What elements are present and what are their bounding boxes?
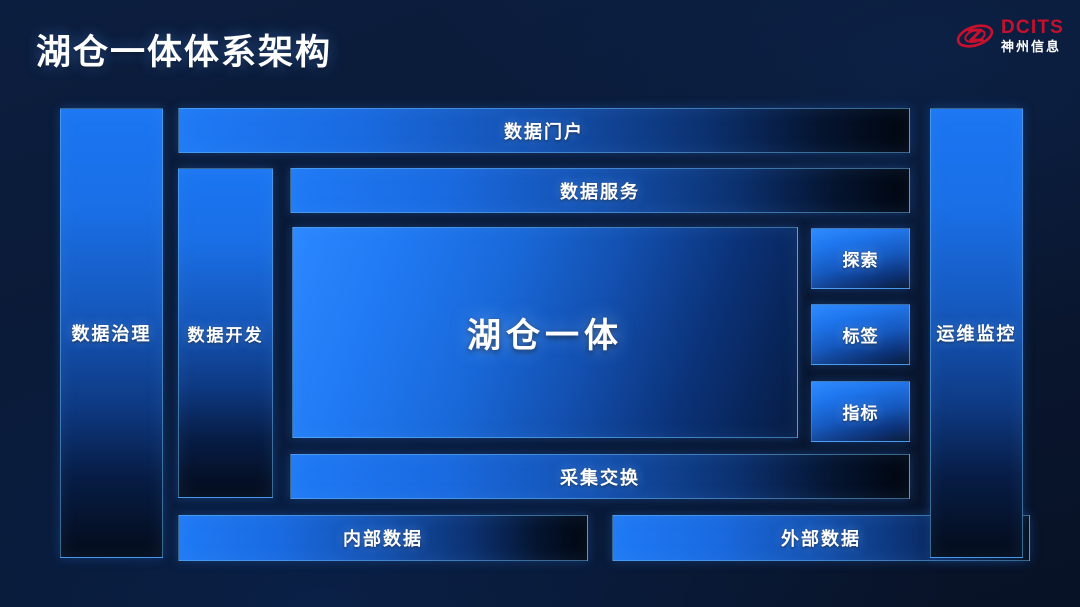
- logo-brand-en: DCITS: [1001, 18, 1064, 37]
- brand-logo: DCITS 神州信息: [955, 18, 1064, 53]
- panel-metric[interactable]: 指标: [811, 381, 910, 442]
- panel-collect-exchange[interactable]: 采集交换: [290, 454, 910, 499]
- logo-brand-cn: 神州信息: [1001, 40, 1064, 53]
- dcits-swirl-icon: [955, 19, 995, 53]
- panel-internal-data[interactable]: 内部数据: [178, 515, 588, 561]
- page-title: 湖仓一体体系架构: [36, 24, 332, 75]
- panel-data-portal[interactable]: 数据门户: [178, 108, 910, 153]
- panel-explore[interactable]: 探索: [811, 228, 910, 289]
- logo-wordmark: DCITS 神州信息: [1001, 18, 1064, 53]
- panel-data-service[interactable]: 数据服务: [290, 168, 910, 213]
- panel-data-governance[interactable]: 数据治理: [60, 108, 163, 558]
- panel-lakehouse[interactable]: 湖仓一体: [292, 227, 798, 438]
- slide-canvas: 湖仓一体体系架构 DCITS 神州信息 数据治理 数据门户 数据开发 数据服务 …: [0, 0, 1080, 607]
- panel-data-development[interactable]: 数据开发: [178, 168, 273, 498]
- panel-tag[interactable]: 标签: [811, 304, 910, 365]
- panel-ops-monitoring[interactable]: 运维监控: [930, 108, 1023, 558]
